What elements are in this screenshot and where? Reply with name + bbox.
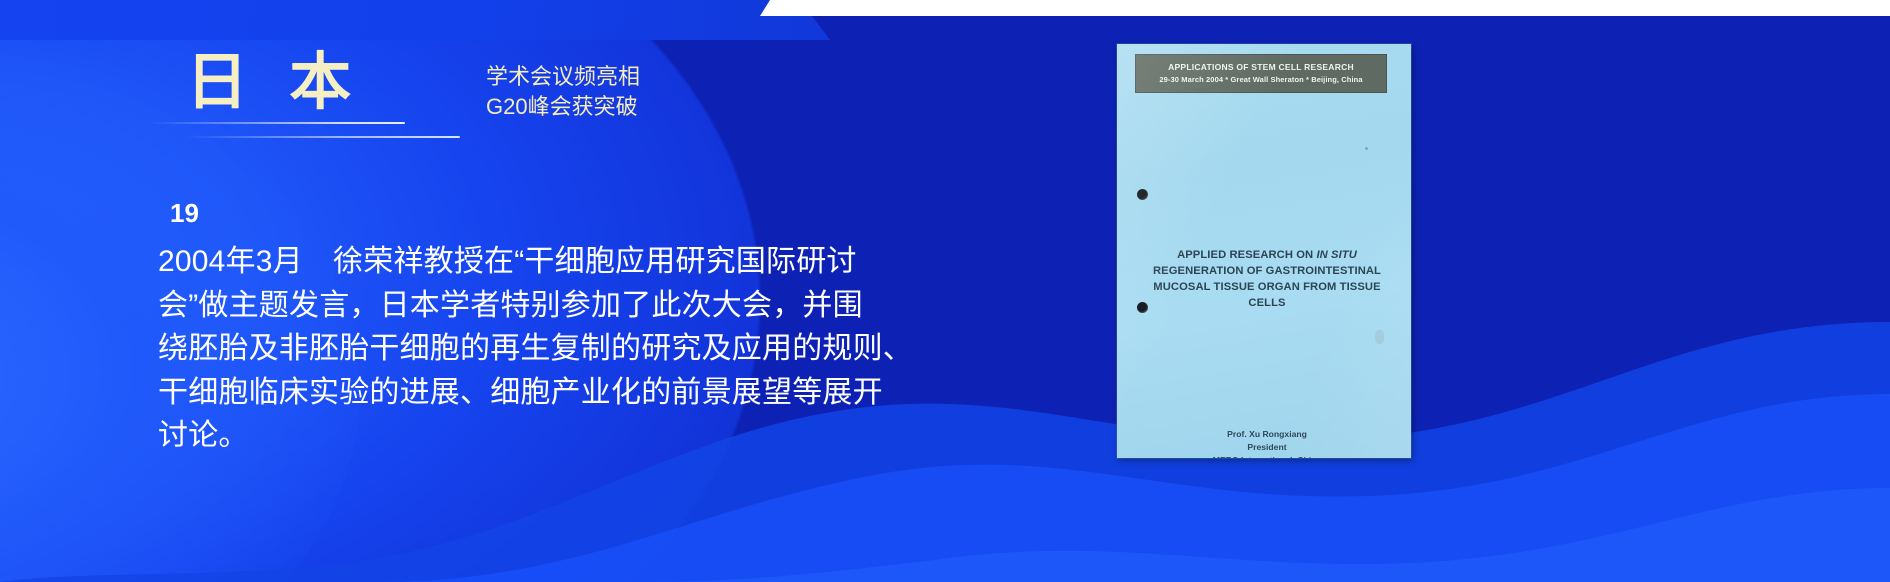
document-footer: Prof. Xu Rongxiang President MEBO Intern…	[1137, 428, 1397, 458]
document-title-italic: IN SITU	[1316, 249, 1356, 261]
scanned-document-photo: APPLICATIONS OF STEM CELL RESEARCH 29-30…	[1117, 44, 1411, 458]
document-author-role: President	[1137, 441, 1397, 454]
background-top-band	[0, 0, 860, 40]
document-title-line-3: MUCOSAL TISSUE ORGAN FROM TISSUE	[1137, 280, 1397, 296]
document-banner-subtitle: 29-30 March 2004 * Great Wall Sheraton *…	[1140, 75, 1382, 85]
body-text-line: 干细胞临床实验的进展、细胞产业化的前景展望等展开	[158, 371, 948, 415]
body-text-line: 绕胚胎及非胚胎干细胞的再生复制的研究及应用的规则、	[158, 327, 948, 371]
paper-smudge	[1375, 330, 1384, 344]
title-underline-rules	[150, 118, 470, 150]
body-text-line: 会”做主题发言，日本学者特别参加了此次大会，并围	[158, 284, 948, 328]
document-author-org: MEBO International, China	[1137, 454, 1397, 458]
hole-punch-icon	[1137, 189, 1148, 200]
page-title: 日 本	[186, 52, 363, 114]
item-number-badge: 19	[170, 200, 199, 226]
title-rule-lower	[186, 136, 460, 138]
document-title: APPLIED RESEARCH ON IN SITU REGENERATION…	[1137, 248, 1397, 312]
document-title-line-1: APPLIED RESEARCH ON	[1177, 249, 1316, 261]
document-banner-title: APPLICATIONS OF STEM CELL RESEARCH	[1140, 62, 1382, 73]
slide-canvas: 日 本 学术会议频亮相 G20峰会获突破 19 2004年3月 徐荣祥教授在“干…	[0, 0, 1890, 582]
document-title-line-2: REGENERATION OF GASTROINTESTINAL	[1137, 264, 1397, 280]
paper-speck	[1365, 147, 1368, 150]
document-title-line-4: CELLS	[1137, 296, 1397, 312]
title-rule-upper	[150, 122, 405, 124]
page-subtitle: 学术会议频亮相 G20峰会获突破	[486, 62, 640, 121]
body-text-line: 讨论。	[158, 414, 948, 458]
body-text-block: 2004年3月 徐荣祥教授在“干细胞应用研究国际研讨 会”做主题发言，日本学者特…	[158, 240, 948, 458]
document-header-banner: APPLICATIONS OF STEM CELL RESEARCH 29-30…	[1135, 54, 1387, 93]
body-text-line: 2004年3月 徐荣祥教授在“干细胞应用研究国际研讨	[158, 240, 948, 284]
document-author-name: Prof. Xu Rongxiang	[1137, 428, 1397, 441]
